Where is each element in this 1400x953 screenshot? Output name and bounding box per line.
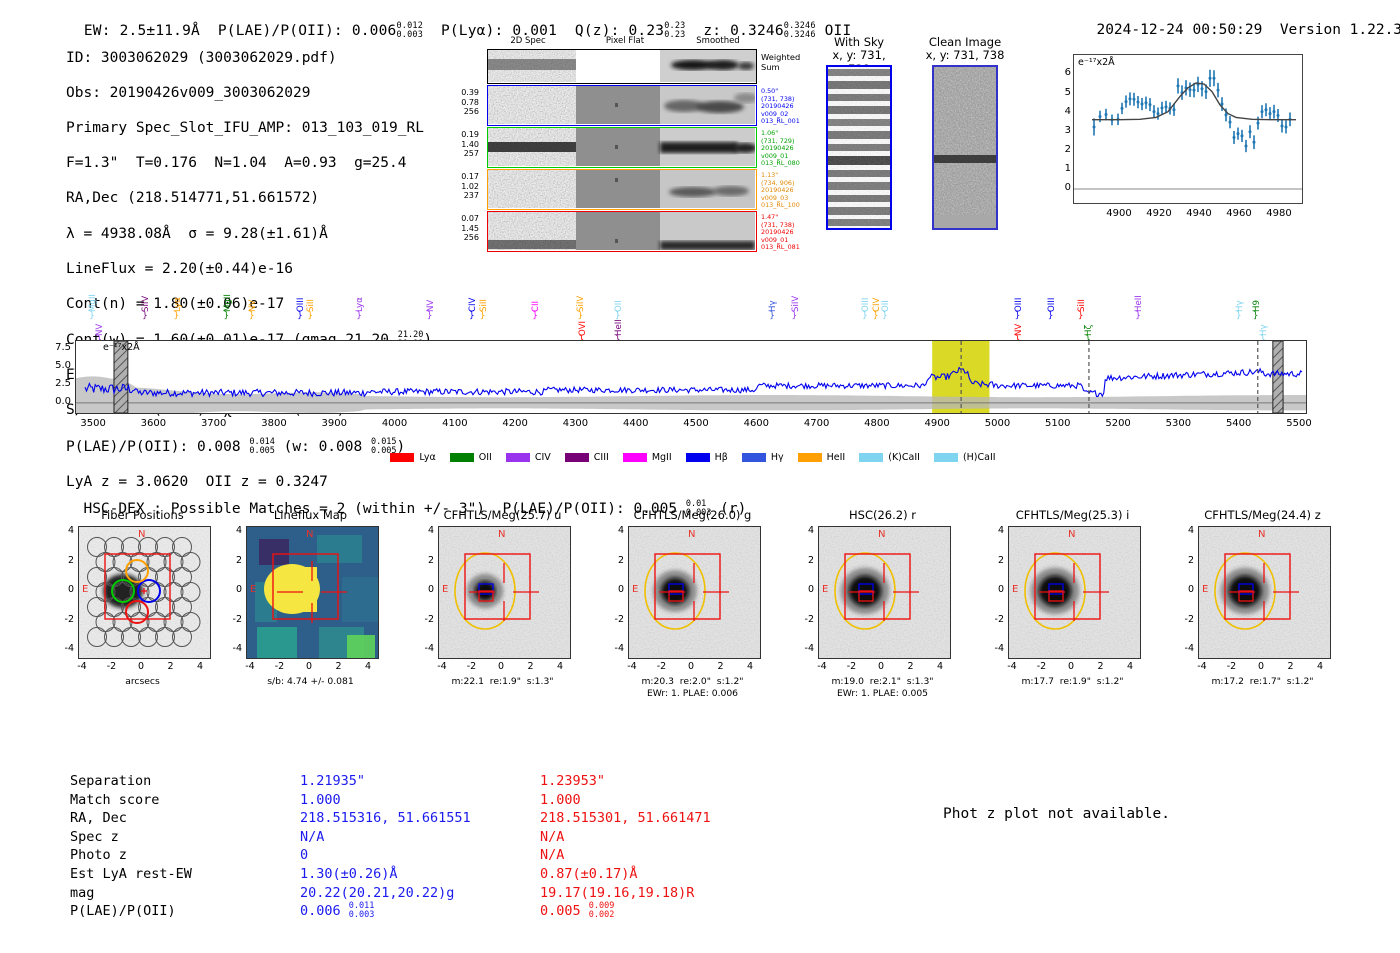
legend-label: Lyα: [419, 452, 435, 463]
compass-east: E: [1012, 584, 1018, 595]
match-row-label: Match score: [70, 791, 300, 810]
match-row-value-blue: 1.21935": [300, 772, 540, 791]
clean-image-coords: x, y: 731, 738: [924, 49, 1006, 63]
cutout-image[interactable]: [438, 526, 571, 659]
fit-ytick-1: 1: [1059, 163, 1071, 174]
info-line-obs: Obs: 20190426v009_3003062029: [66, 85, 432, 103]
legend-label: HeII: [827, 452, 846, 463]
match-table: Separation1.21935"1.23953"Match score1.0…: [70, 772, 711, 921]
compass-north: N: [498, 529, 505, 540]
spec-xtick-5200: 5200: [1098, 418, 1138, 429]
match-row-value-red: N/A: [540, 846, 711, 865]
cutout-title: Fiber Positions: [60, 508, 225, 522]
cutout-xtick: 4: [357, 661, 379, 672]
cutout-ytick: 0: [798, 584, 814, 595]
cutout-ytick: -4: [226, 643, 242, 654]
spec2d-row-orange-val1: 1.02: [445, 182, 479, 192]
spectrum-line-label-SiIV: SiIV: [141, 282, 151, 312]
cutout-xtick: 2: [160, 661, 182, 672]
cutout-title: CFHTLS/Meg(24.4) z: [1180, 508, 1345, 522]
spectrum-units: e⁻¹⁷x2Å: [103, 342, 140, 353]
legend-label: OII: [479, 452, 492, 463]
cutout-title: Lineflux Map: [228, 508, 393, 522]
spectrum-line-brace: }: [356, 311, 362, 321]
cutout-caption: s/b: 4.74 +/- 0.081: [228, 676, 393, 688]
cutout-xtick: -4: [621, 661, 643, 672]
cutout-xtick: 0: [870, 661, 892, 672]
cutout-caption: m:19.0 re:2.1" s:1.3": [800, 676, 965, 688]
spectrum-line-brace: }: [1048, 311, 1054, 321]
cutout-xtick: 2: [710, 661, 732, 672]
cutout-image[interactable]: [818, 526, 951, 659]
legend-label: Hβ: [715, 452, 728, 463]
legend-swatch: [798, 453, 822, 462]
cutout-ytick: -4: [418, 643, 434, 654]
spectrum-line-label-H: Hζ: [1084, 306, 1094, 336]
spec-xtick-5500: 5500: [1279, 418, 1319, 429]
match-row-label: P(LAE)/P(OII): [70, 902, 300, 921]
line-fit-plot: e⁻¹⁷x2Å 0123456 49004920494049604980: [1035, 50, 1315, 250]
compass-east: E: [1202, 584, 1208, 595]
cutout-ytick: 2: [608, 555, 624, 566]
spectrum-line-label-OII: OII: [881, 282, 891, 312]
spec-ytick-5: 5.0: [43, 360, 71, 371]
table-row: Separation1.21935"1.23953": [70, 772, 711, 791]
compass-east: E: [82, 584, 88, 595]
compass-east: E: [822, 584, 828, 595]
legend-label: (K)CaII: [888, 452, 920, 463]
cutout-panel-6[interactable]: CFHTLS/Meg(24.4) zNE-4-4-2-2002244m:17.2…: [1180, 508, 1345, 708]
spectrum-legend: LyαOIICIVCIIIMgIIHβHγHeII(K)CaII(H)CaII: [0, 452, 1400, 465]
spectrum-line-label-NV: NV: [248, 282, 258, 312]
spec-ytick-0: 0.0: [43, 396, 71, 407]
cutout-xtick: 4: [929, 661, 951, 672]
cutout-ytick: -2: [1178, 614, 1194, 625]
legend-swatch: [686, 453, 710, 462]
fit-xtick-4960: 4960: [1223, 208, 1255, 219]
match-row-value-red: N/A: [540, 828, 711, 847]
spec-xtick-5000: 5000: [978, 418, 1018, 429]
spectrum-line-label-Ly: Lyα: [173, 282, 183, 312]
spectrum-line-label-HeII: HeII: [1134, 282, 1144, 312]
cutout-ytick: 0: [226, 584, 242, 595]
cutout-ytick: -2: [418, 614, 434, 625]
spectrum-line-label-MgII: MgII: [223, 282, 233, 312]
match-row-value-red: 1.000: [540, 791, 711, 810]
cutout-panel-4[interactable]: HSC(26.2) rNE-4-4-2-2002244m:19.0 re:2.1…: [800, 508, 965, 708]
spectrum-line-brace: }: [174, 311, 180, 321]
cutout-ytick: 4: [418, 525, 434, 536]
spec2d-col-header-pixelflat: Pixel Flat: [580, 36, 670, 46]
legend-swatch: [565, 453, 589, 462]
spectrum-line-brace: }: [297, 311, 303, 321]
spec2d-row-orange-val0: 0.17: [445, 172, 479, 182]
cutout-title: CFHTLS/Meg(25.3) i: [990, 508, 1155, 522]
spec-xtick-3900: 3900: [314, 418, 354, 429]
info-line-lambda: λ = 4938.08Å σ = 9.28(±1.61)Å: [66, 226, 432, 244]
cutout-ytick: -2: [988, 614, 1004, 625]
legend-item-HCaII: (H)CaII: [934, 452, 996, 463]
match-row-label: Est LyA rest-EW: [70, 865, 300, 884]
spectrum-line-label-H: Hγ: [768, 282, 778, 312]
legend-swatch: [506, 453, 530, 462]
match-row-value-red: 0.87(±0.17)Å: [540, 865, 711, 884]
table-row: Match score1.0001.000: [70, 791, 711, 810]
compass-east: E: [632, 584, 638, 595]
header-datetime: 2024-12-24 00:50:29: [1096, 22, 1262, 38]
spec-xtick-4500: 4500: [676, 418, 716, 429]
legend-item-MgII: MgII: [623, 452, 672, 463]
cutout-ytick: 4: [988, 525, 1004, 536]
spec2d-col-header-2dspec: 2D Spec: [483, 36, 573, 46]
cutout-xtick: -4: [1001, 661, 1023, 672]
spec-xtick-3500: 3500: [73, 418, 113, 429]
spec-xtick-4000: 4000: [375, 418, 415, 429]
cutout-xtick: -4: [811, 661, 833, 672]
table-row: P(LAE)/P(OII)0.006 0.0110.0030.005 0.009…: [70, 902, 711, 921]
match-row-value-blue: 218.515316, 51.661551: [300, 809, 540, 828]
cutout-xtick: 4: [739, 661, 761, 672]
match-row-label: Photo z: [70, 846, 300, 865]
spec-xtick-3800: 3800: [254, 418, 294, 429]
match-row-value-blue: 1.000: [300, 791, 540, 810]
spectrum-line-label-SiIV: SiIV: [791, 282, 801, 312]
info-line-fwhm: F=1.3" T=0.176 N=1.04 A=0.93 g=25.4: [66, 155, 432, 173]
plae-blue-value: 0.006: [300, 903, 349, 919]
spec-xtick-5300: 5300: [1158, 418, 1198, 429]
spectrum-line-brace: }: [873, 311, 879, 321]
info-line-radec: RA,Dec (218.514771,51.661572): [66, 190, 432, 208]
spec2d-row-orange-val2: 237: [445, 191, 479, 201]
cutout-title: CFHTLS/Meg(25.7) u: [420, 508, 585, 522]
legend-label: CIV: [535, 452, 551, 463]
fit-ytick-0: 0: [1059, 182, 1071, 193]
spec-xtick-4700: 4700: [797, 418, 837, 429]
table-row: mag20.22(20.21,20.22)g19.17(19.16,19.18)…: [70, 884, 711, 903]
cutout-ytick: 0: [1178, 584, 1194, 595]
cutout-xtick: 4: [189, 661, 211, 672]
spec2d-row-blue-val0: 0.39: [445, 88, 479, 98]
spectrum-line-brace: }: [249, 311, 255, 321]
cutout-xtick: 0: [130, 661, 152, 672]
info-line-primary-spec: Primary Spec_Slot_IFU_AMP: 013_103_019_R…: [66, 120, 432, 138]
match-row-label: Spec z: [70, 828, 300, 847]
cutout-ytick: -4: [608, 643, 624, 654]
match-row-value-blue: 20.22(20.21,20.22)g: [300, 884, 540, 903]
header-timestamp-version: 2024-12-24 00:50:29 Version 1.22.3: [1079, 6, 1400, 38]
spectrum-line-brace: }: [224, 311, 230, 321]
cutout-caption: arcsecs: [60, 676, 225, 688]
spectrum-line-labels: MgII}NV}SiIV}Lyα}MgII}NV}OIII}SiII}Lyα}N…: [75, 280, 1307, 340]
spectrum-line-label-OIII: OIII: [1047, 282, 1057, 312]
fit-xtick-4920: 4920: [1143, 208, 1175, 219]
spec2d-col-header-smoothed: Smoothed: [673, 36, 763, 46]
info-line-lineflux: LineFlux = 2.20(±0.44)e-16: [66, 261, 432, 279]
spectrum-line-brace: }: [1236, 311, 1242, 321]
legend-item-OII: OII: [450, 452, 492, 463]
cutout-ytick: 0: [58, 584, 74, 595]
cutout-ytick: 4: [226, 525, 242, 536]
cutout-xtick: 2: [520, 661, 542, 672]
cutout-xtick: -2: [269, 661, 291, 672]
cutout-panel-0[interactable]: Fiber PositionsNE-4-4-2-2002244arcsecs: [60, 508, 225, 708]
match-row-label: Separation: [70, 772, 300, 791]
cutout-xtick: -4: [239, 661, 261, 672]
cutout-ytick: 2: [418, 555, 434, 566]
info-line-id: ID: 3003062029 (3003062029.pdf): [66, 50, 432, 68]
spec2d-row-blue-meta: 0.50" (731, 738) 20190426 v009_02 013_RL…: [761, 88, 800, 126]
cutout-image[interactable]: [246, 526, 379, 659]
spec2d-weighted-sum-label: Weighted Sum: [761, 52, 800, 72]
spectrum-line-brace: }: [307, 311, 313, 321]
cutout-title: HSC(26.2) r: [800, 508, 965, 522]
cutout-xtick: -2: [1221, 661, 1243, 672]
spectrum-line-label-H: Hγ: [1235, 282, 1245, 312]
cutout-xtick: 0: [1060, 661, 1082, 672]
cutout-xtick: -2: [101, 661, 123, 672]
cutout-image[interactable]: [1198, 526, 1331, 659]
fit-xtick-4940: 4940: [1183, 208, 1215, 219]
cutout-caption: m:17.2 re:1.7" s:1.2": [1180, 676, 1345, 688]
cutout-image[interactable]: [628, 526, 761, 659]
cutout-ytick: 4: [608, 525, 624, 536]
cutout-xtick: 4: [549, 661, 571, 672]
spectrum-line-brace: }: [1135, 311, 1141, 321]
fit-ytick-3: 3: [1059, 125, 1071, 136]
cutout-caption-secondary: EWr: 1. PLAE: 0.005: [800, 688, 965, 700]
legend-label: CIII: [594, 452, 609, 463]
legend-swatch: [450, 453, 474, 462]
cutout-xtick: 2: [900, 661, 922, 672]
compass-north: N: [688, 529, 695, 540]
cutout-xtick: -2: [1031, 661, 1053, 672]
fit-plot-units: e⁻¹⁷x2Å: [1078, 57, 1115, 68]
legend-item-Ly: Lyα: [390, 452, 435, 463]
match-row-value-blue: 0: [300, 846, 540, 865]
cutout-ytick: -4: [58, 643, 74, 654]
spec-xtick-5400: 5400: [1219, 418, 1259, 429]
spectrum-line-brace: }: [469, 311, 475, 321]
spectrum-line-label-H: Hγ: [1259, 306, 1269, 336]
legend-item-H: Hγ: [742, 452, 784, 463]
cutout-ytick: 0: [608, 584, 624, 595]
match-row-value-red: 0.005 0.0090.002: [540, 902, 711, 921]
table-row: Photo z0N/A: [70, 846, 711, 865]
fit-ytick-2: 2: [1059, 144, 1071, 155]
legend-item-CIV: CIV: [506, 452, 551, 463]
spectrum-line-brace: }: [769, 311, 775, 321]
cutout-xtick: -4: [431, 661, 453, 672]
spectrum-line-label-NV: NV: [426, 282, 436, 312]
spectrum-line-brace: }: [89, 311, 95, 321]
compass-north: N: [878, 529, 885, 540]
legend-item-CIII: CIII: [565, 452, 609, 463]
match-row-value-blue: N/A: [300, 828, 540, 847]
compass-north: N: [138, 529, 145, 540]
spectrum-line-label-SiII: SiII: [479, 282, 489, 312]
cutout-ytick: -4: [798, 643, 814, 654]
cutout-ytick: -4: [1178, 643, 1194, 654]
spec-ytick-7.5: 7.5: [43, 342, 71, 353]
compass-east: E: [250, 584, 256, 595]
table-row: Spec zN/AN/A: [70, 828, 711, 847]
cutout-ytick: -2: [798, 614, 814, 625]
cutout-xtick: 0: [298, 661, 320, 672]
legend-item-KCaII: (K)CaII: [859, 452, 920, 463]
compass-north: N: [1068, 529, 1075, 540]
cutout-xtick: 2: [1090, 661, 1112, 672]
spectrum-line-brace: }: [532, 311, 538, 321]
legend-item-HeII: HeII: [798, 452, 846, 463]
spectrum-line-brace: }: [1253, 311, 1259, 321]
match-row-label: mag: [70, 884, 300, 903]
spec-xtick-5100: 5100: [1038, 418, 1078, 429]
spectrum-line-label-Ly: Lyα: [355, 282, 365, 312]
cutout-ytick: -2: [226, 614, 242, 625]
match-row-value-red: 1.23953": [540, 772, 711, 791]
spectrum-line-label-OIII: OIII: [861, 282, 871, 312]
spec-xtick-4300: 4300: [555, 418, 595, 429]
spec-xtick-3700: 3700: [194, 418, 234, 429]
cutout-panel-2[interactable]: CFHTLS/Meg(25.7) uNE-4-4-2-2002244m:22.1…: [420, 508, 585, 708]
spec2d-row-green-meta: 1.06" (731, 729) 20190426 v009_01 013_RL…: [761, 130, 800, 168]
cutout-xtick: 0: [680, 661, 702, 672]
spectrum-line-label-NV: NV: [1014, 306, 1024, 336]
cutout-image[interactable]: [78, 526, 211, 659]
cutout-caption: m:22.1 re:1.9" s:1.3": [420, 676, 585, 688]
spec2d-row-green-val2: 257: [445, 149, 479, 159]
spectrum-line-brace: }: [142, 311, 148, 321]
match-row-value-red: 19.17(19.16,19.18)R: [540, 884, 711, 903]
cutout-image[interactable]: [1008, 526, 1141, 659]
cutout-xtick: -4: [1191, 661, 1213, 672]
cutout-caption: m:20.3 re:2.0" s:1.2": [610, 676, 775, 688]
table-row: RA, Dec218.515316, 51.661551218.515301, …: [70, 809, 711, 828]
cutout-title: CFHTLS/Meg(26.0) g: [610, 508, 775, 522]
legend-swatch: [623, 453, 647, 462]
cutout-xtick: 0: [490, 661, 512, 672]
cutout-panel-1[interactable]: Lineflux MapNE-4-4-2-2002244s/b: 4.74 +/…: [228, 508, 393, 708]
cutout-xtick: -2: [461, 661, 483, 672]
spec-ytick-2.5: 2.5: [43, 378, 71, 389]
plae-red-value: 0.005: [540, 903, 589, 919]
plae-red-range: 0.0090.002: [589, 902, 615, 920]
legend-label: (H)CaII: [963, 452, 996, 463]
spec2d-row-green-val0: 0.19: [445, 130, 479, 140]
spectrum-line-brace: }: [792, 311, 798, 321]
spectrum-line-brace: }: [862, 311, 868, 321]
spec2d-row-red-val0: 0.07: [445, 214, 479, 224]
spec-xtick-4600: 4600: [736, 418, 776, 429]
cutout-xtick: -2: [651, 661, 673, 672]
spectrum-line-label-CIV: CIV: [468, 282, 478, 312]
spectrum-line-label-CII: CII: [531, 282, 541, 312]
header-version: Version 1.22.3: [1280, 22, 1400, 38]
compass-north: N: [306, 529, 313, 540]
spec2d-row-orange-meta: 1.13" (734, 906) 20190426 v009_03 013_RL…: [761, 172, 800, 210]
cutout-ytick: 0: [988, 584, 1004, 595]
match-row-label: RA, Dec: [70, 809, 300, 828]
legend-swatch: [390, 453, 414, 462]
cutout-xtick: -4: [71, 661, 93, 672]
spec2d-row-blue-val1: 0.78: [445, 98, 479, 108]
full-spectrum-plot: MgII}NV}SiIV}Lyα}MgII}NV}OIII}SiII}Lyα}N…: [75, 340, 1315, 440]
cutout-xtick: 4: [1119, 661, 1141, 672]
fit-ytick-4: 4: [1059, 106, 1071, 117]
fit-xtick-4900: 4900: [1103, 208, 1135, 219]
cutout-xtick: 2: [1280, 661, 1302, 672]
spectrum-line-label-OVI: OVI: [578, 306, 588, 336]
compass-north: N: [1258, 529, 1265, 540]
spectrum-line-brace: }: [480, 311, 486, 321]
fit-ytick-6: 6: [1059, 67, 1071, 78]
cutout-ytick: 2: [1178, 555, 1194, 566]
spec-xtick-4200: 4200: [495, 418, 535, 429]
spectrum-line-label-SiII: SiII: [306, 282, 316, 312]
legend-item-H: Hβ: [686, 452, 728, 463]
spectrum-line-brace: }: [1078, 311, 1084, 321]
fit-ytick-5: 5: [1059, 87, 1071, 98]
legend-swatch: [859, 453, 883, 462]
legend-label: Hγ: [771, 452, 784, 463]
cutout-ytick: -4: [988, 643, 1004, 654]
table-row: Est LyA rest-EW1.30(±0.26)Å0.87(±0.17)Å: [70, 865, 711, 884]
spec2d-row-red-val1: 1.45: [445, 224, 479, 234]
cutout-ytick: 0: [418, 584, 434, 595]
cutout-xtick: -2: [841, 661, 863, 672]
spec2d-weighted-sum-row: [487, 49, 757, 84]
cutout-ytick: 4: [798, 525, 814, 536]
fit-xtick-4980: 4980: [1263, 208, 1295, 219]
spectrum-line-brace: }: [427, 311, 433, 321]
spec-xtick-4100: 4100: [435, 418, 475, 429]
spec2d-row-green-val1: 1.40: [445, 140, 479, 150]
legend-label: MgII: [652, 452, 672, 463]
cutout-xtick: 2: [328, 661, 350, 672]
cutout-ytick: -2: [58, 614, 74, 625]
cutout-ytick: 2: [226, 555, 242, 566]
legend-swatch: [934, 453, 958, 462]
cutout-caption: m:17.7 re:1.9" s:1.2": [990, 676, 1155, 688]
spec2d-row-red-val2: 256: [445, 233, 479, 243]
legend-swatch: [742, 453, 766, 462]
spec-xtick-4900: 4900: [917, 418, 957, 429]
cutout-ytick: 2: [58, 555, 74, 566]
cutout-panel-3[interactable]: CFHTLS/Meg(26.0) gNE-4-4-2-2002244m:20.3…: [610, 508, 775, 708]
cutout-ytick: 4: [58, 525, 74, 536]
spec-xtick-4800: 4800: [857, 418, 897, 429]
match-row-value-blue: 1.30(±0.26)Å: [300, 865, 540, 884]
spec-xtick-3600: 3600: [133, 418, 173, 429]
match-row-value-red: 218.515301, 51.661471: [540, 809, 711, 828]
spectrum-line-label-HeII: HeII: [614, 306, 624, 336]
cutout-panel-5[interactable]: CFHTLS/Meg(25.3) iNE-4-4-2-2002244m:17.7…: [990, 508, 1155, 708]
spectrum-line-brace: }: [882, 311, 888, 321]
cutout-ytick: 2: [988, 555, 1004, 566]
cutout-xtick: 0: [1250, 661, 1272, 672]
spec2d-panel-group: 2D Spec Pixel Flat Smoothed Weighted Sum…: [455, 36, 815, 256]
cutout-ytick: 4: [1178, 525, 1194, 536]
spectrum-line-label-OIII: OIII: [296, 282, 306, 312]
cutout-xtick: 4: [1309, 661, 1331, 672]
match-row-value-blue: 0.006 0.0110.003: [300, 902, 540, 921]
cutout-caption-secondary: EWr: 1. PLAE: 0.006: [610, 688, 775, 700]
spec2d-row-red-meta: 1.47" (731, 738) 20190426 v009_01 013_RL…: [761, 214, 800, 252]
cutout-ytick: 2: [798, 555, 814, 566]
spectrum-line-label-NV: NV: [95, 306, 105, 336]
cutout-ytick: -2: [608, 614, 624, 625]
plae-blue-range: 0.0110.003: [349, 902, 375, 920]
